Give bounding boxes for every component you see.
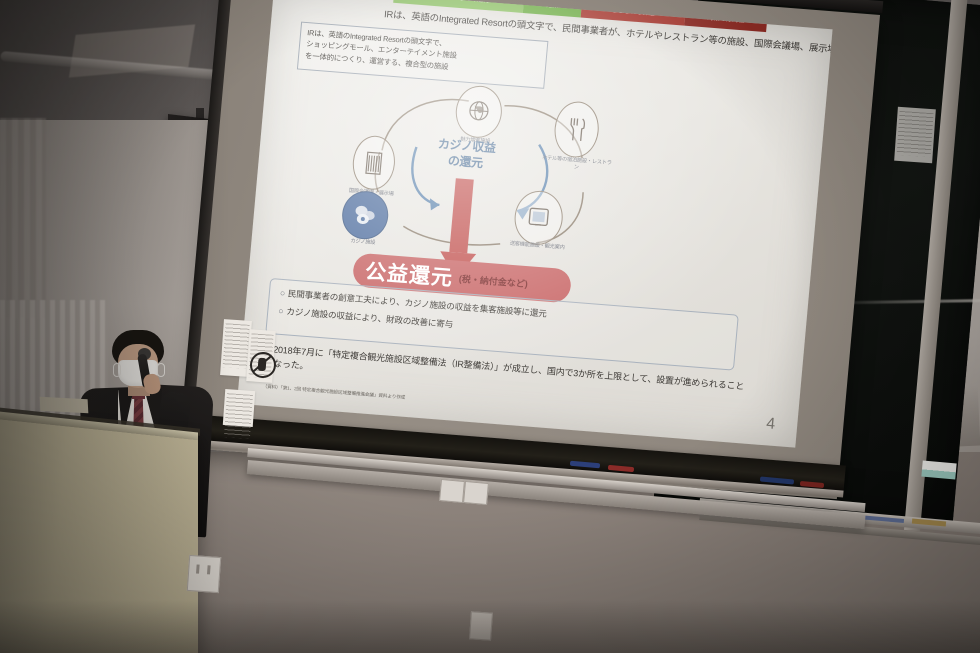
wall-switch[interactable]: [463, 481, 489, 505]
floor-shadow: [0, 600, 980, 653]
mask-ear-loop: [157, 363, 165, 377]
cutlery-glyph: [564, 115, 588, 145]
casino-revenue-diagram: 国際会議場・展示場 魅力増進施設: [275, 73, 712, 305]
prohibition-figure: [258, 358, 267, 372]
projection-screen: 観光資源としての魅力 効果 懸念される課題 対策の方向性 IRは、英語のInte…: [188, 0, 880, 513]
projected-slide: 観光資源としての魅力 効果 懸念される課題 対策の方向性 IRは、英語のInte…: [237, 0, 833, 448]
banner-sub-text: (税・納付金など): [458, 271, 528, 289]
bullet-marker: ○: [280, 288, 286, 298]
podium-papers: [40, 397, 89, 414]
outlet-slot: [196, 564, 200, 573]
wall-document: [894, 107, 936, 164]
lecture-room-photo: 観光資源としての魅力 効果 懸念される課題 対策の方向性 IRは、英語のInte…: [0, 0, 980, 653]
slide-page-number: 4: [765, 415, 775, 434]
wall-switch[interactable]: [439, 479, 465, 503]
outlet-slot: [207, 565, 211, 574]
wall-outlet: [187, 555, 221, 593]
tray-card: [921, 461, 956, 480]
chips-glyph: [351, 202, 379, 228]
window-blinds: [0, 118, 46, 318]
bullet-marker: ○: [278, 306, 284, 316]
building-glyph: [363, 149, 385, 176]
globe-glyph: [466, 98, 492, 126]
document-text-lines: [897, 111, 934, 157]
mask-ear-loop: [113, 363, 121, 377]
display-glyph: [526, 204, 552, 232]
